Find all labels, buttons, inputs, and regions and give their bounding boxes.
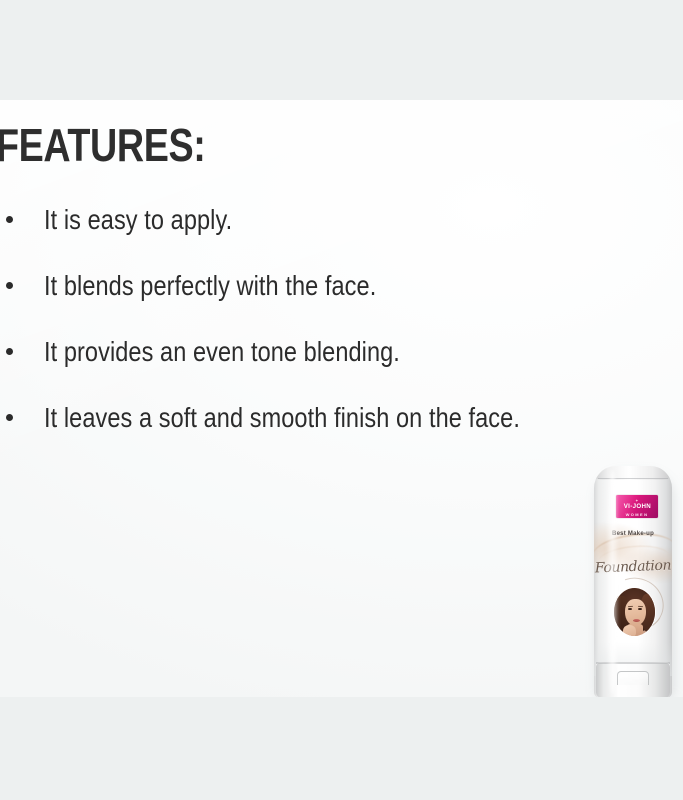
bullet-dot-icon [6,348,13,355]
cap-press-tab [617,671,649,685]
list-item-label: It leaves a soft and smooth finish on th… [44,402,620,435]
portrait-brow-right [637,605,642,607]
presentation-slide: FEATURES: It is easy to apply. It blends… [0,100,683,697]
portrait-eye-left [628,608,632,610]
bullet-dot-icon [6,216,13,223]
portrait-eye-right [638,608,642,610]
portrait-hand [623,625,636,636]
bullet-dot-icon [6,282,13,289]
product-image: ✦ VI-JOHN WOMEN Best Make-up Foundation [594,466,674,697]
list-item-label: It blends perfectly with the face. [44,270,620,303]
portrait-face [625,599,646,626]
bullet-dot-icon [6,414,13,421]
portrait-brow-left [627,605,632,607]
portrait-lips [633,619,640,622]
bottom-letterbox-band [0,697,683,800]
page-title: FEATURES: [0,122,205,168]
list-item-label: It is easy to apply. [44,204,620,237]
list-item: It provides an even tone blending. [0,336,620,370]
product-tagline: Best Make-up [594,530,672,538]
list-item: It blends perfectly with the face. [0,270,620,304]
model-portrait [614,588,655,636]
top-letterbox-band [0,0,683,100]
brand-sub-text: WOMEN [626,512,649,517]
product-name-script: Foundation [594,559,672,577]
tube-flip-cap [596,662,670,697]
list-item: It leaves a soft and smooth finish on th… [0,402,620,436]
list-item: It is easy to apply. [0,204,620,238]
tube-crimp-seal [594,466,672,480]
list-item-label: It provides an even tone blending. [44,336,620,369]
product-tube: ✦ VI-JOHN WOMEN Best Make-up Foundation [594,466,672,697]
brand-name-text: VI-JOHN [623,503,650,511]
brand-label: ✦ VI-JOHN WOMEN [616,495,658,518]
features-list: It is easy to apply. It blends perfectly… [0,204,620,468]
slide-page: FEATURES: It is easy to apply. It blends… [0,0,683,800]
